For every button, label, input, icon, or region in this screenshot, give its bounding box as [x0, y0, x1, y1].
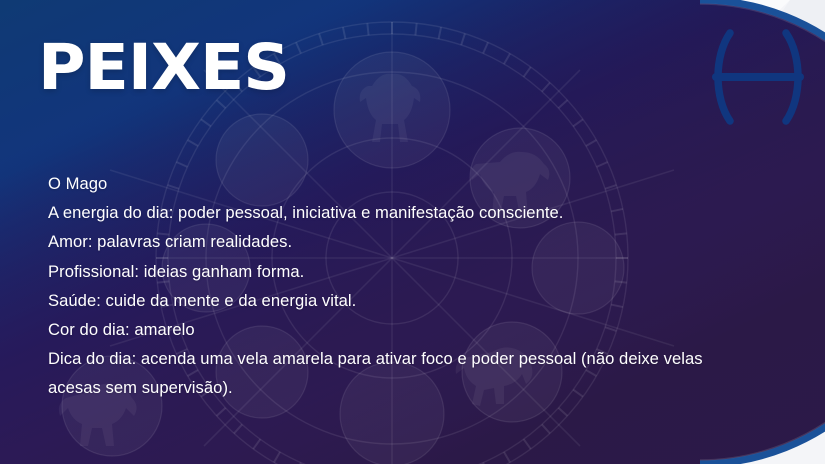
pisces-glyph [712, 28, 804, 126]
line-color: Cor do dia: amarelo [48, 315, 720, 344]
page-title: PEIXES [38, 36, 289, 99]
line-love: Amor: palavras criam realidades. [48, 227, 720, 256]
line-professional: Profissional: ideias ganham forma. [48, 257, 720, 286]
horoscope-card: PEIXES O Mago A energia do dia: poder pe… [0, 0, 825, 464]
horoscope-body: O Mago A energia do dia: poder pessoal, … [48, 169, 720, 403]
line-tarot: O Mago [48, 169, 720, 198]
line-tip: Dica do dia: acenda uma vela amarela par… [48, 344, 720, 402]
line-energy: A energia do dia: poder pessoal, iniciat… [48, 198, 720, 227]
line-health: Saúde: cuide da mente e da energia vital… [48, 286, 720, 315]
